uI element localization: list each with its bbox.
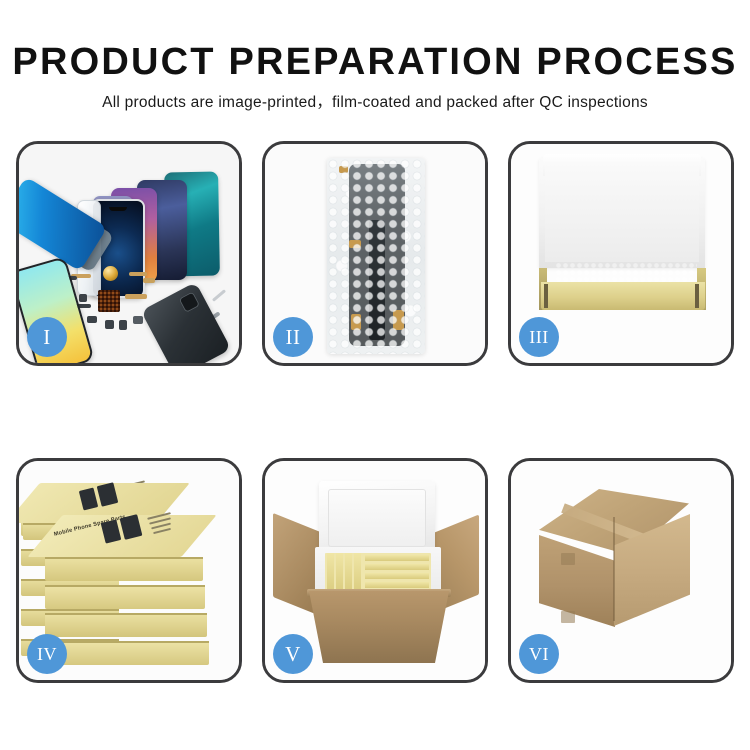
page-title: PRODUCT PREPARATION PROCESS	[0, 0, 750, 84]
step-badge: III	[519, 317, 559, 357]
bubble-wrap-sleeve-icon	[327, 158, 425, 354]
bubble-texture	[327, 158, 425, 354]
foam-lid-icon	[319, 481, 435, 557]
carton-seam	[613, 517, 615, 621]
page-subtitle: All products are image-printed，film-coat…	[0, 84, 750, 113]
small-part-icon	[79, 294, 87, 302]
flex-cable-icon	[125, 294, 147, 299]
small-part-icon	[143, 278, 155, 283]
step-badge: VI	[519, 634, 559, 674]
box-edge-left	[544, 284, 548, 308]
process-panel-1[interactable]: I	[16, 141, 242, 366]
process-panel-3[interactable]: III	[508, 141, 734, 366]
flex-cable-icon	[129, 272, 147, 276]
tape-residue-icon	[561, 553, 575, 565]
process-panel-6[interactable]: VI	[508, 458, 734, 683]
box-edge-right	[695, 284, 699, 308]
product-preparation-infographic: PRODUCT PREPARATION PROCESS All products…	[0, 0, 750, 750]
tape-residue-icon	[561, 611, 575, 623]
small-part-icon	[105, 320, 114, 329]
step-badge: I	[27, 317, 67, 357]
taptic-engine-icon	[103, 266, 118, 281]
small-part-icon	[87, 316, 97, 323]
process-panel-grid: I II	[16, 141, 734, 683]
header: PRODUCT PREPARATION PROCESS All products…	[0, 0, 750, 113]
step-badge: II	[273, 317, 313, 357]
step-badge: V	[273, 634, 313, 674]
copper-shield-icon	[98, 290, 120, 312]
kraft-carton-icon	[309, 591, 449, 663]
step-badge: IV	[27, 634, 67, 674]
process-panel-5[interactable]: V	[262, 458, 488, 683]
small-part-icon	[119, 320, 127, 330]
foam-liner-icon	[545, 162, 699, 262]
yellow-inner-box-icon	[541, 282, 705, 310]
process-panel-4[interactable]: Mobile Phone Spare Parts Mobile Phone Sp…	[16, 458, 242, 683]
small-part-icon	[133, 316, 143, 324]
process-panel-2[interactable]: II	[262, 141, 488, 366]
